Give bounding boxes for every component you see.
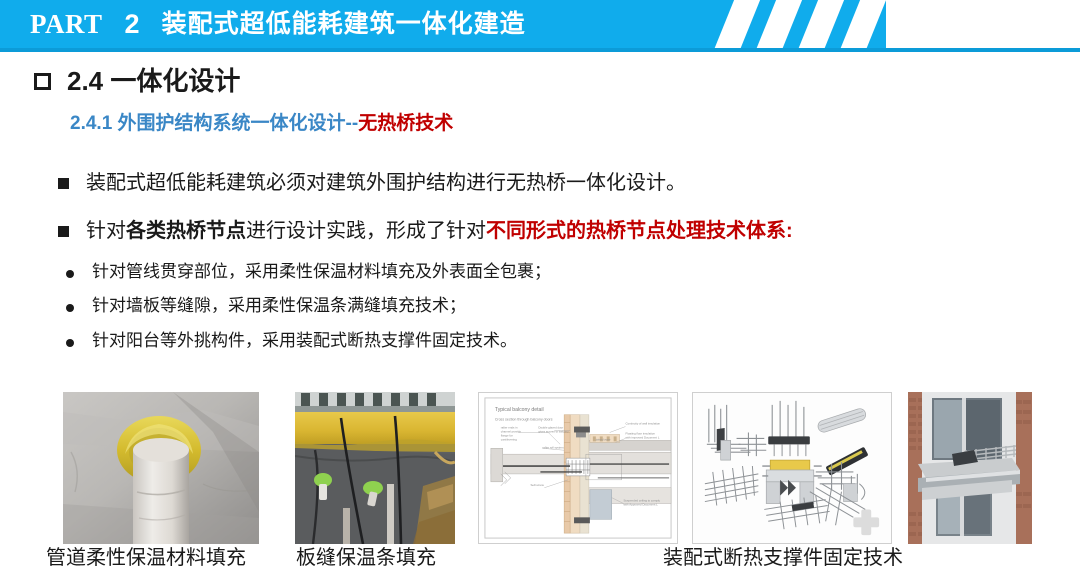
stripe-3: [795, 0, 846, 52]
subsection-heading: 2.4.1 外围护结构系统一体化设计--无热桥技术: [70, 114, 453, 133]
header-underline: [0, 48, 1080, 52]
svg-text:rafter roll system: rafter roll system: [542, 445, 564, 449]
list-item: 针对阳台等外挑构件，采用装配式断热支撑件固定技术。: [66, 331, 551, 351]
bullet-item-2: 针对各类热桥节点进行设计实践，形成了针对不同形式的热桥节点处理技术体系:: [58, 218, 793, 244]
figure-caption-2: 板缝保温条填充: [296, 548, 436, 568]
sub-bullet-1-text: 针对管线贯穿部位，采用柔性保温材料填充及外表面全包裹；: [92, 262, 551, 282]
bullet-2-seg-0: 针对: [86, 220, 126, 242]
figure-row: Typical balcony detail Cross section thr…: [0, 392, 1080, 544]
balcony-detail-drawing: Typical balcony detail Cross section thr…: [478, 392, 678, 544]
bullet-2-seg-1: 各类热桥节点: [126, 220, 246, 242]
subsection-heading-blue: 2.4.1 外围护结构系统一体化设计--: [70, 113, 358, 134]
slide-header-bar: PART 2 装配式超低能耗建筑一体化建造: [0, 0, 1080, 52]
svg-text:cantilevering: cantilevering: [501, 437, 517, 441]
section-heading-text: 2.4 一体化设计: [67, 68, 240, 94]
header-white-block: [886, 0, 1080, 48]
svg-text:Cross section through balcony: Cross section through balcony doors: [495, 418, 553, 422]
bullet-1-text: 装配式超低能耗建筑必须对建筑外围护结构进行无热桥一体化设计。: [86, 170, 686, 196]
subsection-heading-red: 无热桥技术: [358, 113, 453, 134]
svg-text:Typical balcony detail: Typical balcony detail: [495, 407, 544, 413]
list-item: 针对墙板等缝隙，采用柔性保温条满缝填充技术；: [66, 296, 551, 316]
svg-text:with improved Document L: with improved Document L: [626, 435, 660, 439]
sub-bullet-list: 针对管线贯穿部位，采用柔性保温材料填充及外表面全包裹； 针对墙板等缝隙，采用柔性…: [66, 262, 551, 351]
balcony-facade-photo: [908, 392, 1032, 544]
dot-bullet-icon: [66, 339, 74, 347]
part-number: 2: [125, 11, 140, 38]
bullet-1-seg-0: 装配式超低能耗建筑必须对建筑外围护结构进行无热桥一体化设计。: [86, 172, 686, 194]
stripe-2: [753, 0, 804, 52]
header-title: 装配式超低能耗建筑一体化建造: [162, 12, 526, 37]
square-bullet-icon: [58, 178, 69, 189]
pipe-penetration-photo: [63, 392, 259, 544]
bullet-item-1: 装配式超低能耗建筑必须对建筑外围护结构进行无热桥一体化设计。: [58, 170, 686, 196]
svg-text:with Approved Document L: with Approved Document L: [624, 503, 659, 507]
svg-text:gives access to balcony: gives access to balcony: [538, 429, 569, 433]
thermal-break-connectors-photo: [692, 392, 892, 544]
stripe-1: [711, 0, 762, 52]
bullet-2-seg-2: 进行设计实践，形成了针对: [246, 220, 486, 242]
section-heading: 2.4 一体化设计: [34, 68, 240, 94]
slide-root: PART 2 装配式超低能耗建筑一体化建造 2.4 一体化设计 2.4.1 外围…: [0, 0, 1080, 580]
dot-bullet-icon: [66, 270, 74, 278]
header-title-group: PART 2 装配式超低能耗建筑一体化建造: [30, 0, 526, 48]
svg-text:joined zone: joined zone: [595, 437, 611, 441]
svg-text:Continuity of wall insulation: Continuity of wall insulation: [626, 422, 661, 426]
sub-bullet-2-text: 针对墙板等缝隙，采用柔性保温条满缝填充技术；: [92, 296, 466, 316]
panel-joint-photo: [295, 392, 455, 544]
figure-caption-1: 管道柔性保温材料填充: [46, 548, 246, 568]
svg-text:Self-screw: Self-screw: [530, 483, 544, 487]
bullet-2-text: 针对各类热桥节点进行设计实践，形成了针对不同形式的热桥节点处理技术体系:: [86, 218, 793, 244]
stripe-4: [837, 0, 888, 52]
figure-caption-3: 装配式断热支撑件固定技术: [663, 548, 903, 568]
list-item: 针对管线贯穿部位，采用柔性保温材料填充及外表面全包裹；: [66, 262, 551, 282]
bullet-2-seg-3: 不同形式的热桥节点处理技术体系:: [486, 220, 793, 242]
square-outline-bullet-icon: [34, 73, 51, 90]
square-bullet-icon: [58, 226, 69, 237]
dot-bullet-icon: [66, 304, 74, 312]
part-label: PART: [30, 11, 103, 38]
sub-bullet-3-text: 针对阳台等外挑构件，采用装配式断热支撑件固定技术。: [92, 331, 517, 351]
